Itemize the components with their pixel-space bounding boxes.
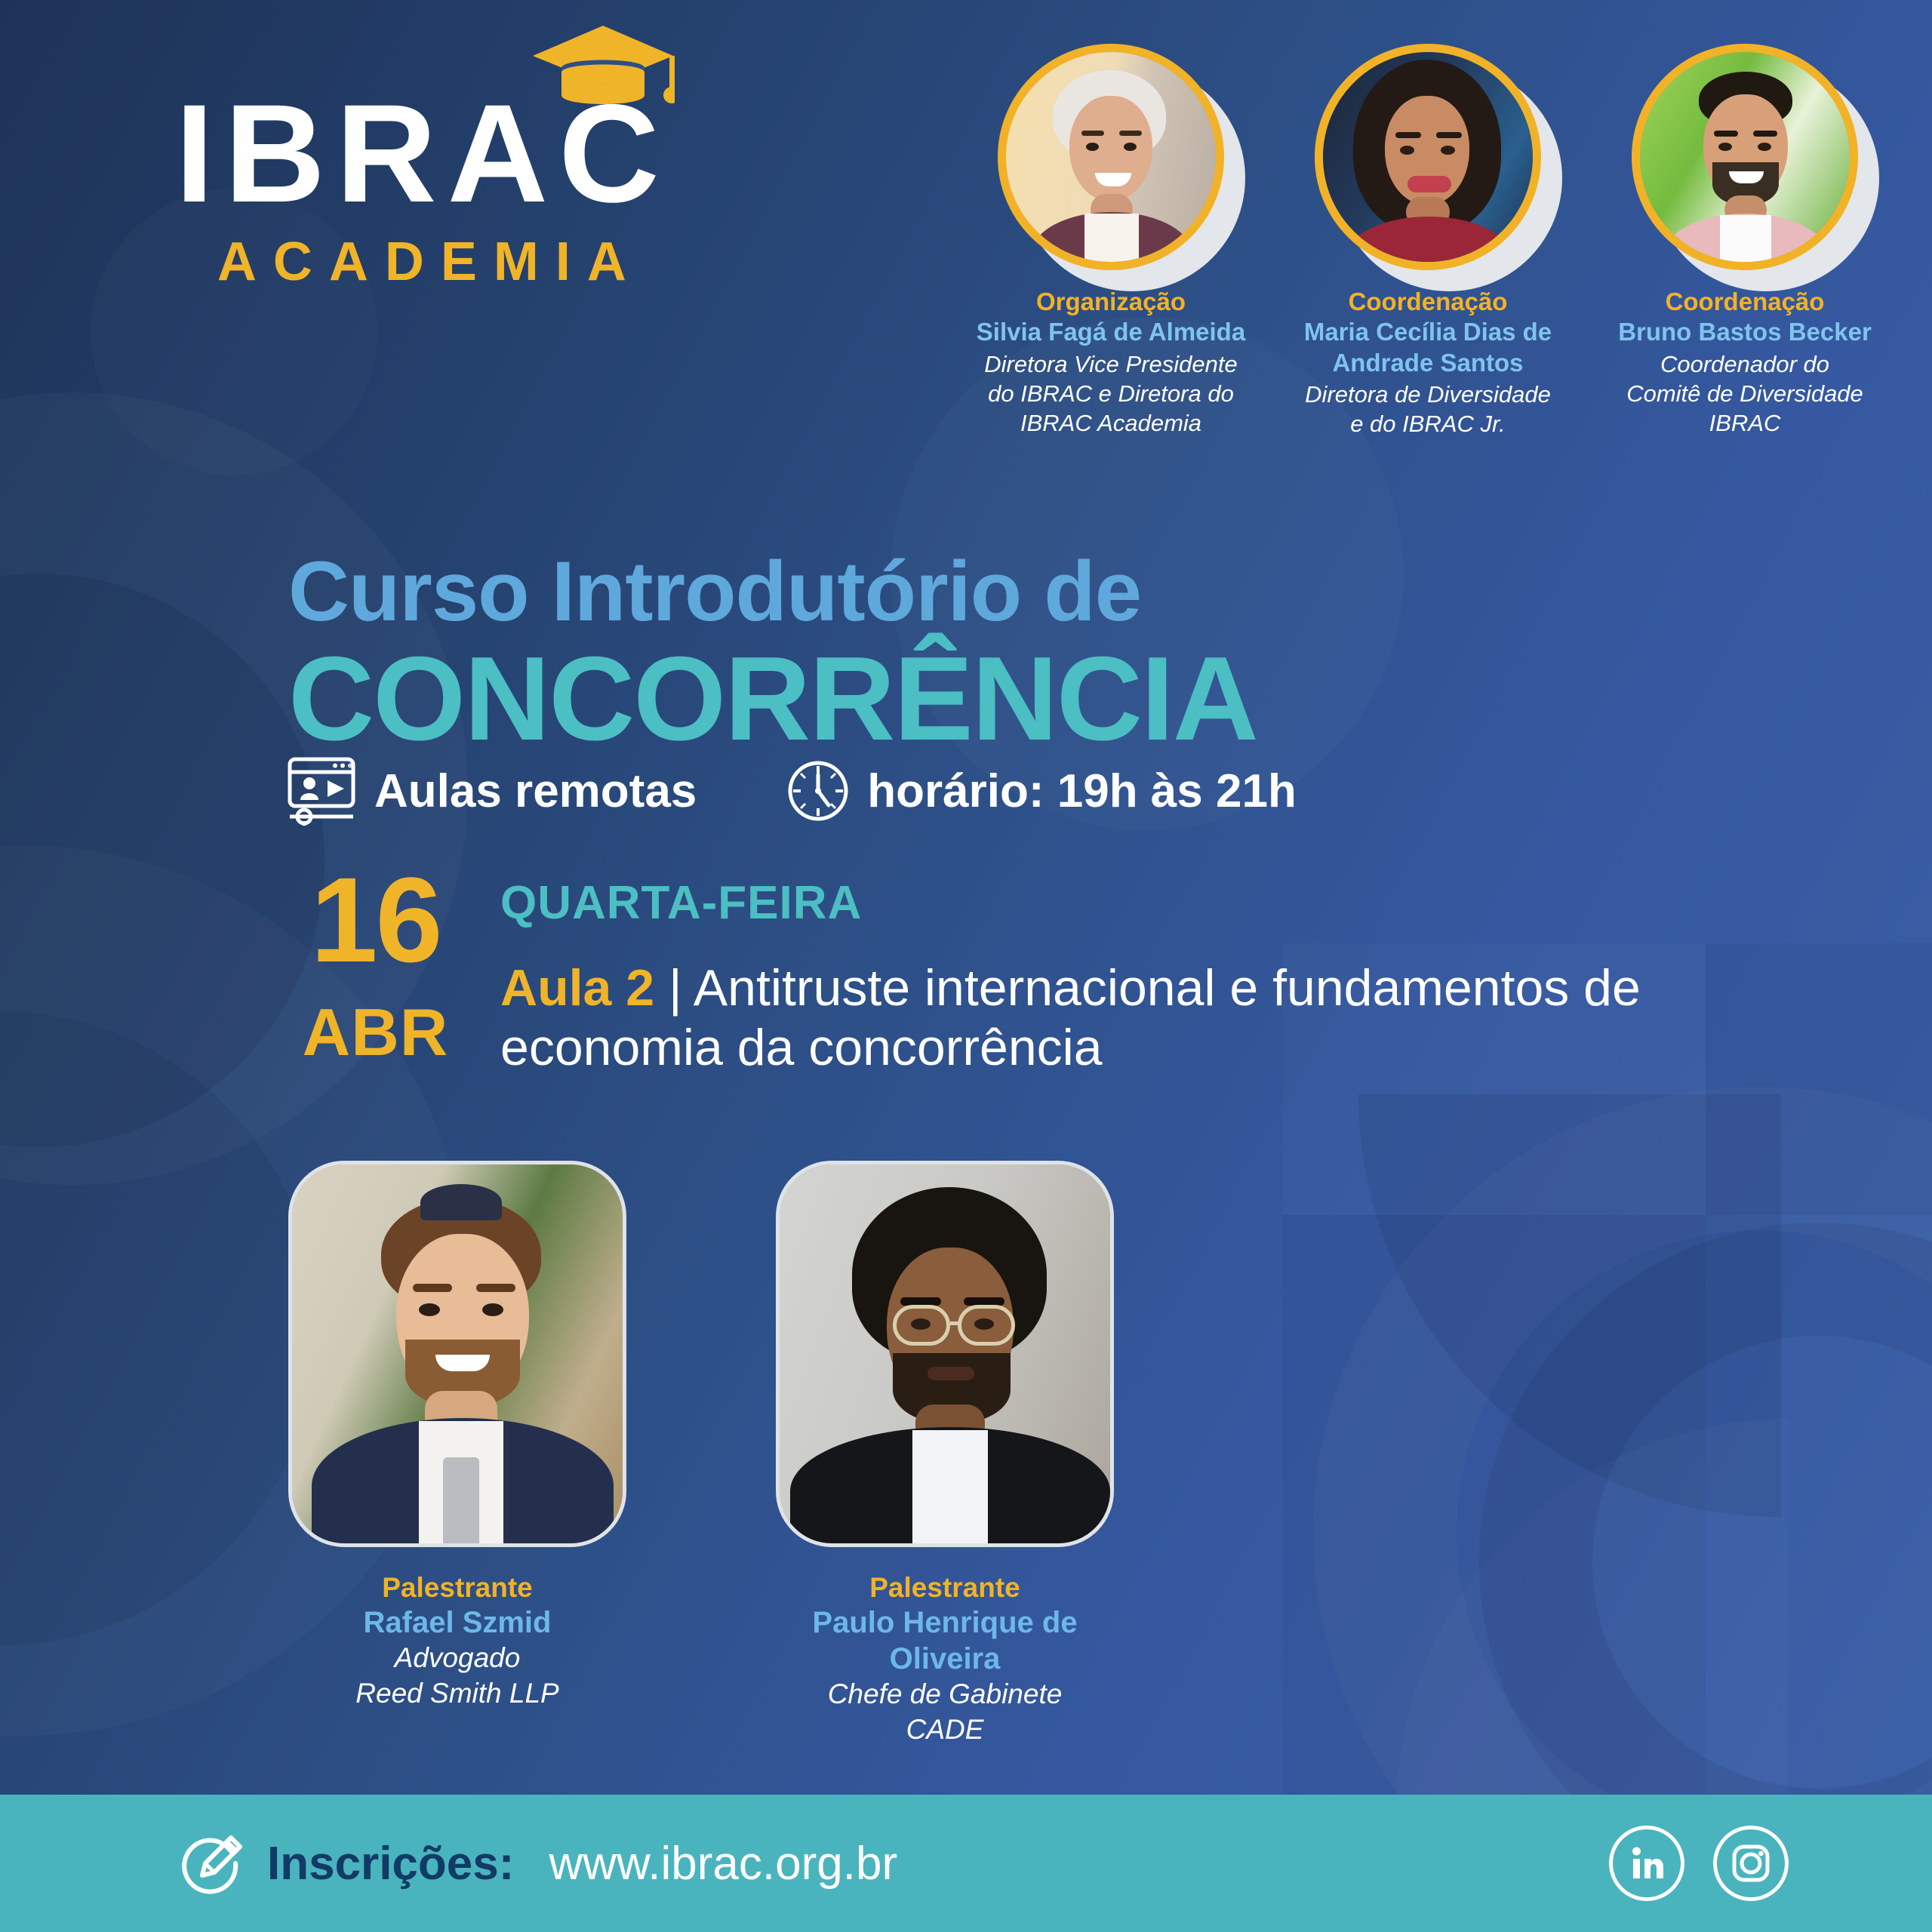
event-info-column: QUARTA-FEIRA Aula 2 | Antitruste interna…: [500, 868, 1768, 1078]
organizer-name: Bruno Bastos Becker: [1594, 317, 1896, 347]
avatar: [998, 44, 1224, 270]
meta-format-label: Aulas remotas: [374, 764, 697, 818]
poster-canvas: IBRAC ACADEMIA: [0, 0, 1932, 1932]
speaker-role: Palestrante: [281, 1571, 634, 1604]
webinar-screen-icon: [285, 755, 358, 827]
organizer-title: Diretora de Diversidade e do IBRAC Jr.: [1277, 380, 1579, 438]
headline-title: CONCORRÊNCIA: [288, 638, 1257, 760]
event-weekday: QUARTA-FEIRA: [500, 880, 1768, 927]
social-links: [1609, 1826, 1789, 1901]
ibrac-logo: IBRAC ACADEMIA: [175, 89, 670, 293]
organizer-name: Silvia Fagá de Almeida: [960, 317, 1262, 347]
linkedin-icon[interactable]: [1609, 1826, 1684, 1901]
speaker-name: Paulo Henrique de Oliveira: [768, 1604, 1121, 1677]
event-date-block: 16 ABR QUARTA-FEIRA Aula 2 | Antitruste …: [294, 868, 1768, 1078]
organizers-row: Organização Silvia Fagá de Almeida Diret…: [960, 44, 1903, 438]
course-headline: Curso Introdutório de CONCORRÊNCIA: [288, 549, 1257, 760]
footer-bar: Inscrições: www.ibrac.org.br: [0, 1795, 1932, 1932]
headline-pretitle: Curso Introdutório de: [288, 549, 1257, 634]
speaker-name: Rafael Szmid: [281, 1604, 634, 1641]
meta-time: horário: 19h às 21h: [786, 758, 1297, 823]
speaker-role: Palestrante: [768, 1571, 1121, 1604]
registration-label: Inscrições:: [267, 1837, 514, 1890]
organizer-card-bruno: Coordenação Bruno Bastos Becker Coordena…: [1594, 44, 1896, 438]
speakers-row: Palestrante Rafael Szmid Advogado Reed S…: [281, 1161, 1121, 1747]
organizer-title: Diretora Vice Presidente do IBRAC e Dire…: [960, 349, 1262, 438]
organizer-name: Maria Cecília Dias de Andrade Santos: [1277, 317, 1579, 378]
organizer-role: Organização: [960, 287, 1262, 317]
event-day: 16: [294, 868, 457, 972]
graduation-cap-icon: [531, 23, 675, 113]
speaker-photo: [776, 1161, 1114, 1547]
lesson-number: Aula 2: [500, 959, 654, 1017]
organizer-card-maria: Coordenação Maria Cecília Dias de Andrad…: [1277, 44, 1579, 438]
registration-url[interactable]: www.ibrac.org.br: [549, 1837, 897, 1890]
meta-format: Aulas remotas: [285, 755, 697, 827]
event-month: ABR: [294, 999, 457, 1066]
avatar: [1632, 44, 1858, 270]
speaker-photo: [288, 1161, 626, 1547]
speaker-card-paulo: Palestrante Paulo Henrique de Oliveira C…: [768, 1161, 1121, 1747]
organizer-role: Coordenação: [1594, 287, 1896, 317]
logo-subtitle: ACADEMIA: [175, 231, 670, 293]
speaker-org: CADE: [768, 1712, 1121, 1747]
meta-time-label: horário: 19h às 21h: [867, 764, 1297, 818]
clock-icon: [786, 758, 851, 823]
pencil-circle-icon: [175, 1829, 245, 1898]
instagram-icon[interactable]: [1713, 1826, 1789, 1901]
organizer-card-silvia: Organização Silvia Fagá de Almeida Diret…: [960, 44, 1262, 438]
speaker-title: Advogado: [281, 1641, 634, 1675]
speaker-org: Reed Smith LLP: [281, 1676, 634, 1711]
avatar: [1315, 44, 1541, 270]
date-column: 16 ABR: [294, 868, 457, 1078]
speaker-title: Chefe de Gabinete: [768, 1677, 1121, 1712]
registration-block: Inscrições: www.ibrac.org.br: [175, 1829, 897, 1898]
organizer-role: Coordenação: [1277, 287, 1579, 317]
event-lesson: Aula 2 | Antitruste internacional e fund…: [500, 958, 1768, 1078]
speaker-card-rafael: Palestrante Rafael Szmid Advogado Reed S…: [281, 1161, 634, 1747]
organizer-title: Coordenador do Comitê de Diversidade IBR…: [1594, 349, 1896, 438]
course-meta-row: Aulas remotas horário: 19h às 21h: [285, 755, 1297, 827]
lesson-separator: |: [669, 959, 682, 1017]
